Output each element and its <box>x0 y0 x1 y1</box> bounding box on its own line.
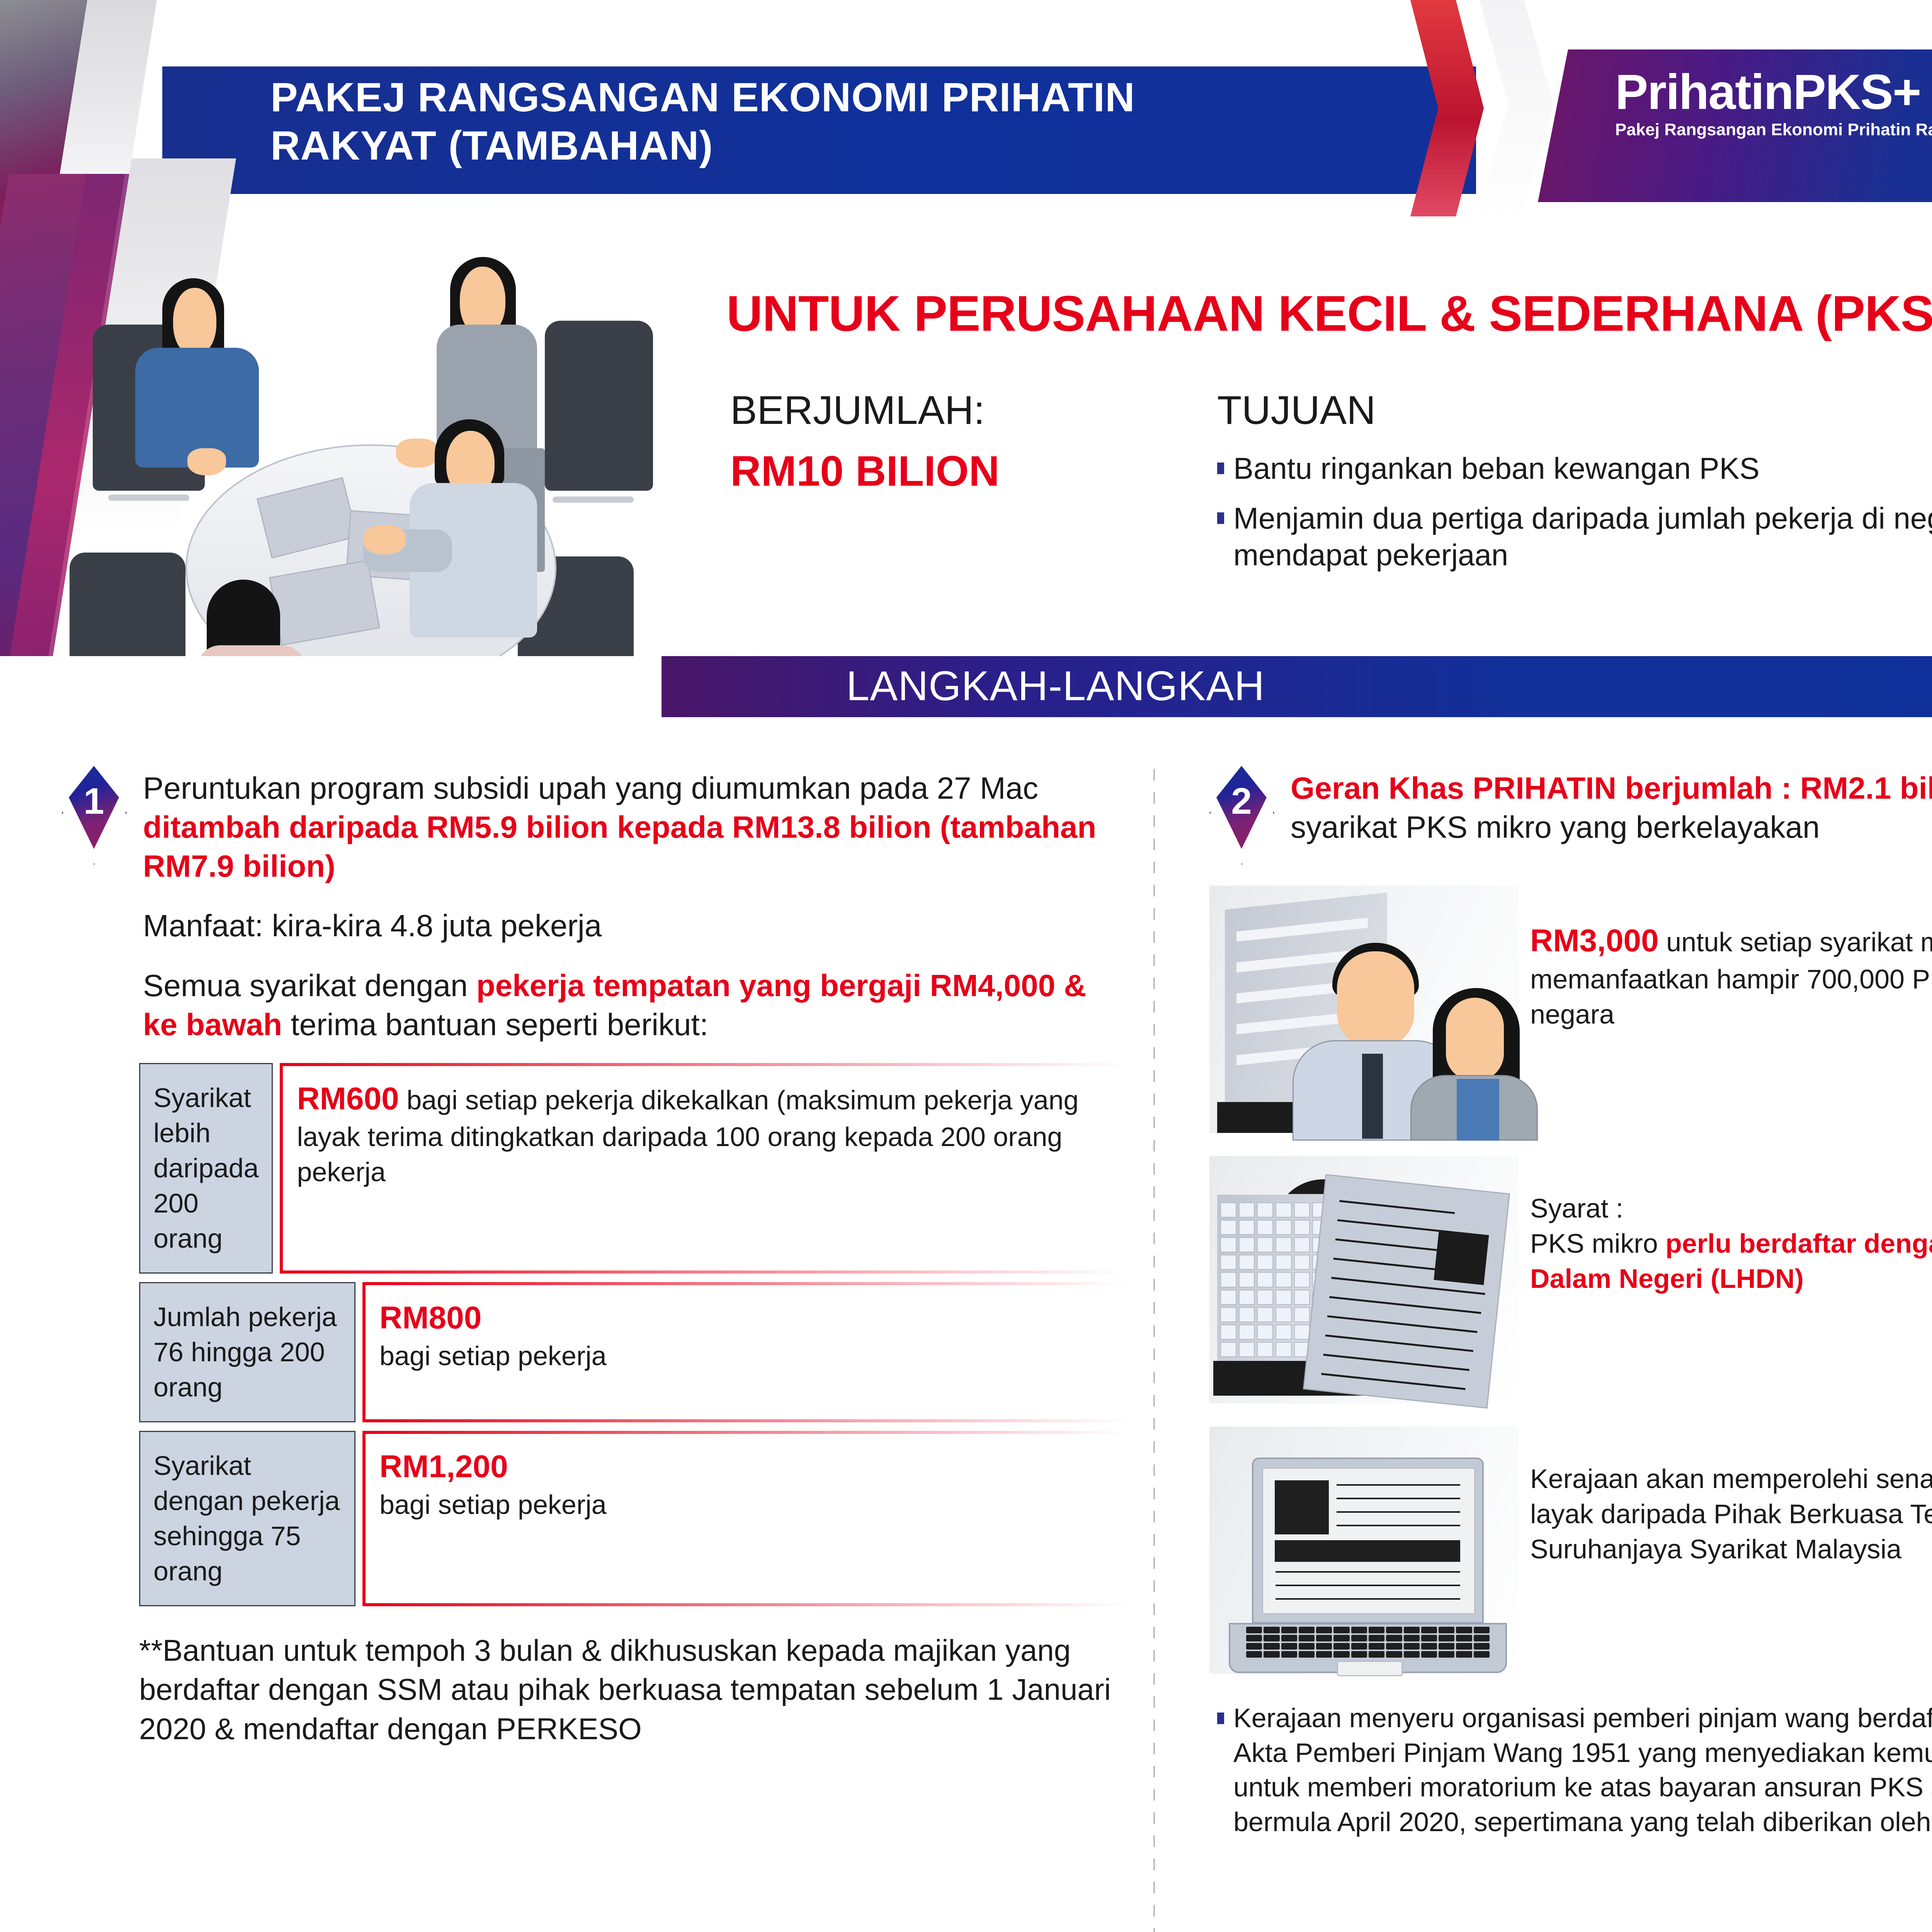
bullet-square-icon <box>1217 512 1224 524</box>
document-line <box>1333 1258 1437 1270</box>
key <box>1333 1643 1349 1650</box>
building-window <box>1220 1272 1236 1287</box>
logo-tagline: Pakej Rangsangan Ekonomi Prihatin Rakyat <box>1615 120 1932 139</box>
building-window <box>1294 1220 1310 1235</box>
key <box>1351 1627 1367 1633</box>
step-1-semua: Semua syarikat dengan pekerja tempatan y… <box>143 966 1117 1044</box>
screen-text-line <box>1337 1525 1460 1526</box>
key <box>1386 1643 1402 1650</box>
screen-image-block <box>1275 1480 1329 1534</box>
key <box>1246 1627 1262 1633</box>
building-window <box>1276 1255 1292 1270</box>
step-1-lead: Peruntukan program subsidi upah yang diu… <box>143 769 1144 886</box>
office-chair-right <box>545 321 653 491</box>
berjumlah-label: BERJUMLAH: <box>730 386 1175 435</box>
hand <box>363 526 406 554</box>
table-row: Syarikat lebih daripada 200 orang RM600 … <box>139 1063 1128 1274</box>
building-window <box>1239 1272 1255 1287</box>
step-2-item-3-text: Kerajaan akan memperolehi senarai PKS mi… <box>1530 1427 1932 1567</box>
key <box>1246 1651 1262 1658</box>
building-window <box>1220 1325 1236 1340</box>
step-2-column: 2 Geran Khas PRIHATIN berjumlah : RM2.1 … <box>1209 769 1932 1839</box>
screen-text-line <box>1276 1571 1460 1573</box>
document-line <box>1339 1200 1455 1214</box>
cell-bottom-rule <box>280 1270 1128 1274</box>
document-line <box>1325 1335 1473 1352</box>
key <box>1439 1643 1454 1650</box>
key <box>1299 1635 1315 1641</box>
chair-leg-right <box>553 497 634 503</box>
step-2-bullet: Kerajaan menyeru organisasi pemberi pinj… <box>1217 1701 1932 1839</box>
amount-detail: bagi setiap pekerja <box>379 1487 1117 1522</box>
key <box>1281 1627 1297 1633</box>
laptop-trackpad <box>1337 1661 1403 1676</box>
document-icon <box>1303 1174 1510 1408</box>
step-1-header: 1 Peruntukan program subsidi upah yang d… <box>62 769 1144 886</box>
key <box>1421 1635 1437 1641</box>
page-title: PAKEJ RANGSANGAN EKONOMI PRIHATIN RAKYAT… <box>270 73 1468 170</box>
building-window <box>1257 1202 1273 1218</box>
laptop-illustration <box>1209 1427 1519 1674</box>
building-window <box>1239 1290 1255 1305</box>
building-window <box>1294 1202 1310 1218</box>
logo-wordmark: PrihatinPKS+ <box>1615 68 1932 117</box>
building-window <box>1294 1255 1310 1270</box>
step-2-item-1-text: RM3,000 untuk setiap syarikat mikro & me… <box>1530 886 1932 1032</box>
building-window <box>1257 1342 1273 1357</box>
key <box>1404 1635 1420 1641</box>
key <box>1404 1651 1420 1658</box>
page-title-line-2: RAKYAT (TAMBAHAN) <box>270 122 1468 170</box>
key <box>1386 1635 1402 1641</box>
subsidy-table: Syarikat lebih daripada 200 orang RM600 … <box>139 1063 1128 1606</box>
building-window <box>1239 1342 1255 1357</box>
key <box>1316 1651 1332 1658</box>
building-window <box>1239 1255 1255 1270</box>
key <box>1264 1651 1279 1658</box>
key <box>1316 1643 1332 1650</box>
screen-text-line <box>1276 1598 1460 1600</box>
brand-logo: PrihatinPKS+ Pakej Rangsangan Ekonomi Pr… <box>1615 68 1932 139</box>
head <box>1446 998 1504 1081</box>
key <box>1386 1627 1402 1633</box>
key <box>1369 1635 1384 1641</box>
building-window <box>1257 1290 1273 1305</box>
step-2-item-1: RM3,000 untuk setiap syarikat mikro & me… <box>1209 886 1932 1133</box>
key <box>1264 1643 1279 1650</box>
tujuan-label: TUJUAN <box>1217 386 1932 435</box>
building-window <box>1276 1342 1292 1357</box>
screen-text-line <box>1337 1498 1460 1499</box>
grant-amount: RM3,000 <box>1530 923 1659 958</box>
building-window <box>1239 1220 1255 1235</box>
step-1-lead-red: ditambah daripada RM5.9 bilion kepada RM… <box>143 810 1096 883</box>
building-window <box>1239 1307 1255 1322</box>
building-window <box>1294 1290 1310 1305</box>
key <box>1474 1651 1490 1658</box>
key <box>1351 1643 1367 1650</box>
meeting-scene <box>70 209 696 665</box>
key <box>1333 1635 1349 1641</box>
key <box>1421 1627 1437 1633</box>
key <box>1421 1651 1437 1658</box>
building-window <box>1220 1342 1236 1357</box>
key <box>1246 1635 1262 1641</box>
screen-banner-block <box>1275 1540 1460 1562</box>
building-window <box>1276 1237 1292 1252</box>
building-window <box>1276 1290 1292 1305</box>
document-line <box>1337 1219 1449 1233</box>
table-row: Jumlah pekerja 76 hingga 200 orang RM800… <box>139 1282 1128 1422</box>
key <box>1351 1651 1367 1658</box>
building-window <box>1276 1307 1292 1322</box>
step-2-lead: Geran Khas PRIHATIN berjumlah : RM2.1 bi… <box>1291 769 1932 847</box>
step-2-badge: 2 <box>1209 766 1275 862</box>
table-cell-category: Syarikat dengan pekerja sehingga 75 oran… <box>139 1431 355 1606</box>
tujuan-block: TUJUAN Bantu ringankan beban kewangan PK… <box>1217 386 1932 587</box>
step-2-bullet-text: Kerajaan menyeru organisasi pemberi pinj… <box>1233 1701 1932 1839</box>
key <box>1299 1627 1315 1633</box>
key <box>1316 1627 1332 1633</box>
table-cell-category: Syarikat lebih daripada 200 orang <box>139 1063 273 1274</box>
building-window <box>1220 1202 1236 1218</box>
document-line <box>1321 1373 1465 1390</box>
building-window <box>1276 1220 1292 1235</box>
list-item: Menjamin dua pertiga daripada jumlah pek… <box>1217 500 1932 573</box>
laptop-keyboard <box>1246 1627 1490 1658</box>
office-chair-bottom-left <box>70 553 185 668</box>
meeting-illustration <box>0 174 723 676</box>
blouse <box>1457 1079 1499 1141</box>
head <box>173 288 216 355</box>
tujuan-item-text: Bantu ringankan beban kewangan PKS <box>1233 450 1760 487</box>
building-window <box>1257 1255 1273 1270</box>
table-cell-category: Jumlah pekerja 76 hingga 200 orang <box>139 1282 355 1422</box>
step-1-column: 1 Peruntukan program subsidi upah yang d… <box>62 769 1144 1748</box>
syarat-plain: PKS mikro <box>1530 1228 1665 1259</box>
building-window <box>1236 918 1368 942</box>
key <box>1456 1635 1472 1641</box>
document-line <box>1329 1296 1481 1314</box>
syarat-body: PKS mikro perlu berdaftar dengan Lembaga… <box>1530 1226 1932 1296</box>
building-window <box>1220 1290 1236 1305</box>
page-title-line-1: PAKEJ RANGSANGAN EKONOMI PRIHATIN <box>270 73 1468 122</box>
key <box>1369 1651 1384 1658</box>
section-banner: LANGKAH-LANGKAH <box>0 656 1932 717</box>
key <box>1439 1651 1454 1658</box>
key <box>1404 1643 1420 1650</box>
key <box>1281 1651 1297 1658</box>
cell-bottom-rule <box>362 1603 1128 1606</box>
bullet-square-icon <box>1217 1713 1224 1724</box>
semua-plain-2: terima bantuan seperti berikut: <box>282 1007 708 1042</box>
hand <box>396 439 439 468</box>
section-banner-title: LANGKAH-LANGKAH <box>846 662 1265 710</box>
amount-value: RM600 <box>297 1081 399 1116</box>
syarat-label: Syarat : <box>1530 1191 1932 1226</box>
key <box>1421 1643 1437 1650</box>
business-people-illustration <box>1209 886 1519 1133</box>
step-1-footnote: **Bantuan untuk tempoh 3 bulan & dikhusu… <box>139 1631 1128 1748</box>
amount-detail: bagi setiap pekerja <box>379 1338 1117 1374</box>
key <box>1369 1643 1384 1650</box>
building-window <box>1257 1237 1273 1252</box>
building-window <box>1276 1272 1292 1287</box>
step-1-badge: 1 <box>62 766 128 862</box>
key <box>1333 1651 1349 1658</box>
step-1-manfaat: Manfaat: kira-kira 4.8 juta pekerja <box>143 906 1144 946</box>
document-stamp <box>1434 1230 1489 1285</box>
document-line <box>1323 1354 1469 1371</box>
key <box>1439 1627 1454 1633</box>
semua-plain-1: Semua syarikat dengan <box>143 968 476 1003</box>
key <box>1456 1651 1472 1658</box>
amount-value: RM1,200 <box>379 1446 1117 1488</box>
screen-text-line <box>1337 1511 1460 1513</box>
step-2-item-3: Kerajaan akan memperolehi senarai PKS mi… <box>1209 1427 1932 1674</box>
tujuan-list: Bantu ringankan beban kewangan PKS Menja… <box>1217 450 1932 573</box>
step-2-number: 2 <box>1216 783 1267 820</box>
hero-headline: UNTUK PERUSAHAAN KECIL & SEDERHANA (PKS) <box>726 286 1932 341</box>
registration-document-illustration <box>1209 1156 1519 1403</box>
table-cell-amount: RM800 bagi setiap pekerja <box>362 1282 1128 1422</box>
screen-text-line <box>1276 1585 1460 1586</box>
key <box>1316 1635 1332 1641</box>
key <box>1404 1627 1420 1633</box>
screen-text-line <box>1337 1484 1460 1486</box>
building-window <box>1257 1220 1273 1235</box>
laptop-screen <box>1262 1468 1475 1614</box>
building-window <box>1220 1307 1236 1322</box>
key <box>1281 1643 1297 1650</box>
key <box>1246 1643 1262 1650</box>
building-window <box>1257 1272 1273 1287</box>
table-row: Syarikat dengan pekerja sehingga 75 oran… <box>139 1431 1128 1606</box>
document-line <box>1335 1238 1443 1252</box>
key <box>1474 1635 1490 1641</box>
step-1-number: 1 <box>69 783 119 820</box>
list-item: Bantu ringankan beban kewangan PKS <box>1217 450 1932 487</box>
document-line <box>1327 1315 1477 1333</box>
amount-value: RM800 <box>379 1298 1117 1339</box>
cell-bottom-rule <box>362 1419 1128 1422</box>
step-2-item-2-text: Syarat : PKS mikro perlu berdaftar denga… <box>1530 1156 1932 1296</box>
key <box>1281 1635 1297 1641</box>
building-window <box>1294 1272 1310 1287</box>
key <box>1333 1627 1349 1633</box>
key <box>1456 1643 1472 1650</box>
step-1-lead-plain: Peruntukan program subsidi upah yang diu… <box>143 771 1038 805</box>
building-window <box>1276 1325 1292 1340</box>
building-window <box>1276 1202 1292 1218</box>
key <box>1474 1627 1490 1633</box>
key <box>1299 1651 1315 1658</box>
step-2-header: 2 Geran Khas PRIHATIN berjumlah : RM2.1 … <box>1209 769 1932 862</box>
amount-detail: bagi setiap pekerja dikekalkan (maksimum… <box>297 1085 1078 1187</box>
key <box>1456 1627 1472 1633</box>
step-2-item-2: Syarat : PKS mikro perlu berdaftar denga… <box>1209 1156 1932 1403</box>
key <box>1264 1635 1279 1641</box>
building-window <box>1257 1307 1273 1322</box>
head <box>1337 951 1414 1048</box>
berjumlah-value: RM10 BILION <box>730 445 1175 498</box>
hero-headline-area: UNTUK PERUSAHAAN KECIL & SEDERHANA (PKS) <box>726 286 1932 341</box>
key <box>1474 1643 1490 1650</box>
key <box>1264 1627 1279 1633</box>
building-window <box>1294 1307 1310 1322</box>
section-banner-spacer <box>0 656 662 717</box>
key <box>1351 1635 1367 1641</box>
building-window <box>1239 1237 1255 1252</box>
key <box>1369 1627 1384 1633</box>
key <box>1439 1635 1454 1641</box>
building-window <box>1239 1325 1255 1340</box>
berjumlah-block: BERJUMLAH: RM10 BILION <box>730 386 1175 498</box>
building-window <box>1220 1255 1236 1270</box>
necktie-icon <box>1362 1054 1383 1139</box>
building-window <box>1220 1220 1236 1235</box>
hand <box>187 448 226 475</box>
table-cell-amount: RM1,200 bagi setiap pekerja <box>362 1431 1128 1606</box>
building-window <box>1257 1325 1273 1340</box>
bullet-square-icon <box>1217 463 1224 474</box>
building-window <box>1239 1202 1255 1218</box>
key <box>1299 1643 1315 1650</box>
laptop-icon <box>1252 1458 1484 1624</box>
building-window <box>1294 1237 1310 1252</box>
building-window <box>1220 1237 1236 1252</box>
step-2-lead-red: Geran Khas PRIHATIN berjumlah : RM2.1 bi… <box>1291 771 1932 805</box>
key <box>1386 1651 1402 1658</box>
table-cell-amount: RM600 bagi setiap pekerja dikekalkan (ma… <box>280 1063 1128 1274</box>
building-window <box>1294 1325 1310 1340</box>
column-divider <box>1153 769 1155 1932</box>
tujuan-item-text: Menjamin dua pertiga daripada jumlah pek… <box>1233 500 1932 573</box>
chair-leg <box>108 495 189 501</box>
